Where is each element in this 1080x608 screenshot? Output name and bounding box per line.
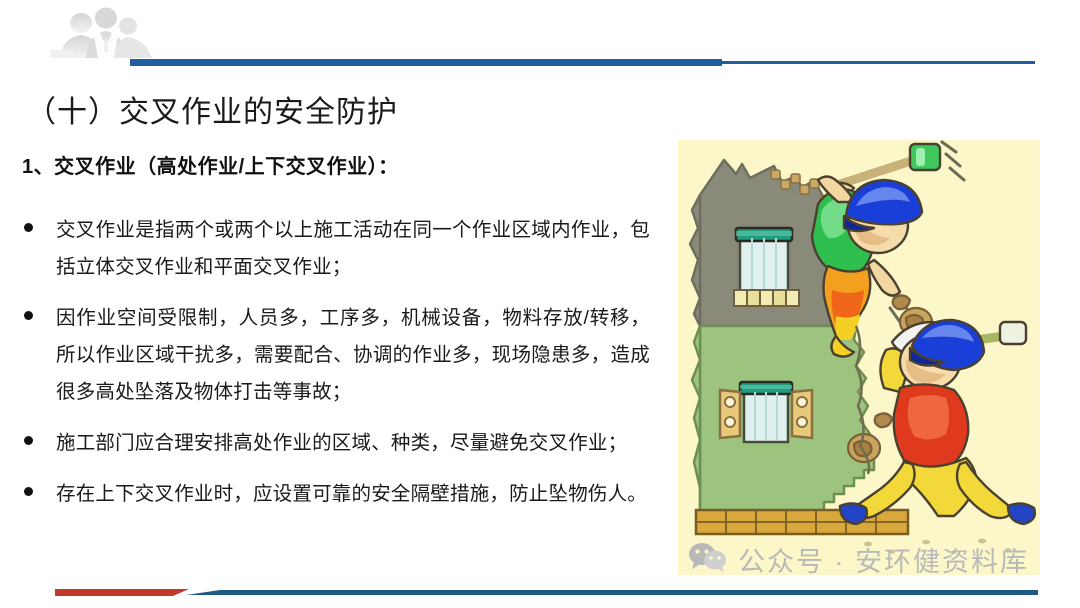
list-item-text: 施工部门应合理安排高处作业的区域、种类，尽量避免交叉作业； xyxy=(56,425,650,462)
footer-accent-blue xyxy=(186,590,1038,595)
bullet-list: 交叉作业是指两个或两个以上施工活动在同一个作业区域内作业，包括立体交叉作业和平面… xyxy=(24,212,650,527)
presentation-slide: （十）交叉作业的安全防护 1、交叉作业（高处作业/上下交叉作业）： 交叉作业是指… xyxy=(0,0,1080,608)
footer-accent-red xyxy=(55,589,189,596)
list-item: 施工部门应合理安排高处作业的区域、种类，尽量避免交叉作业； xyxy=(24,425,650,462)
bullet-dot-icon xyxy=(24,311,33,320)
header-accent-bar-thin xyxy=(722,61,1035,64)
list-item-text: 存在上下交叉作业时，应设置可靠的安全隔壁措施，防止坠物伤人。 xyxy=(56,476,650,513)
people-silhouette-icon xyxy=(48,6,178,64)
bullet-dot-icon xyxy=(24,487,33,496)
list-item: 因作业空间受限制，人员多，工序多，机械设备，物料存放/转移，所以作业区域干扰多，… xyxy=(24,300,650,411)
bullet-dot-icon xyxy=(24,436,33,445)
list-item: 存在上下交叉作业时，应设置可靠的安全隔壁措施，防止坠物伤人。 xyxy=(24,476,650,513)
list-item-text: 因作业空间受限制，人员多，工序多，机械设备，物料存放/转移，所以作业区域干扰多，… xyxy=(56,300,650,411)
cross-operation-demolition-cartoon xyxy=(678,140,1040,575)
header-accent-bar-thick xyxy=(130,59,722,66)
bullet-dot-icon xyxy=(24,223,33,232)
section-subtitle: 1、交叉作业（高处作业/上下交叉作业）： xyxy=(22,150,399,179)
list-item: 交叉作业是指两个或两个以上施工活动在同一个作业区域内作业，包括立体交叉作业和平面… xyxy=(24,212,650,286)
page-title: （十）交叉作业的安全防护 xyxy=(26,87,398,131)
list-item-text: 交叉作业是指两个或两个以上施工活动在同一个作业区域内作业，包括立体交叉作业和平面… xyxy=(56,212,650,286)
